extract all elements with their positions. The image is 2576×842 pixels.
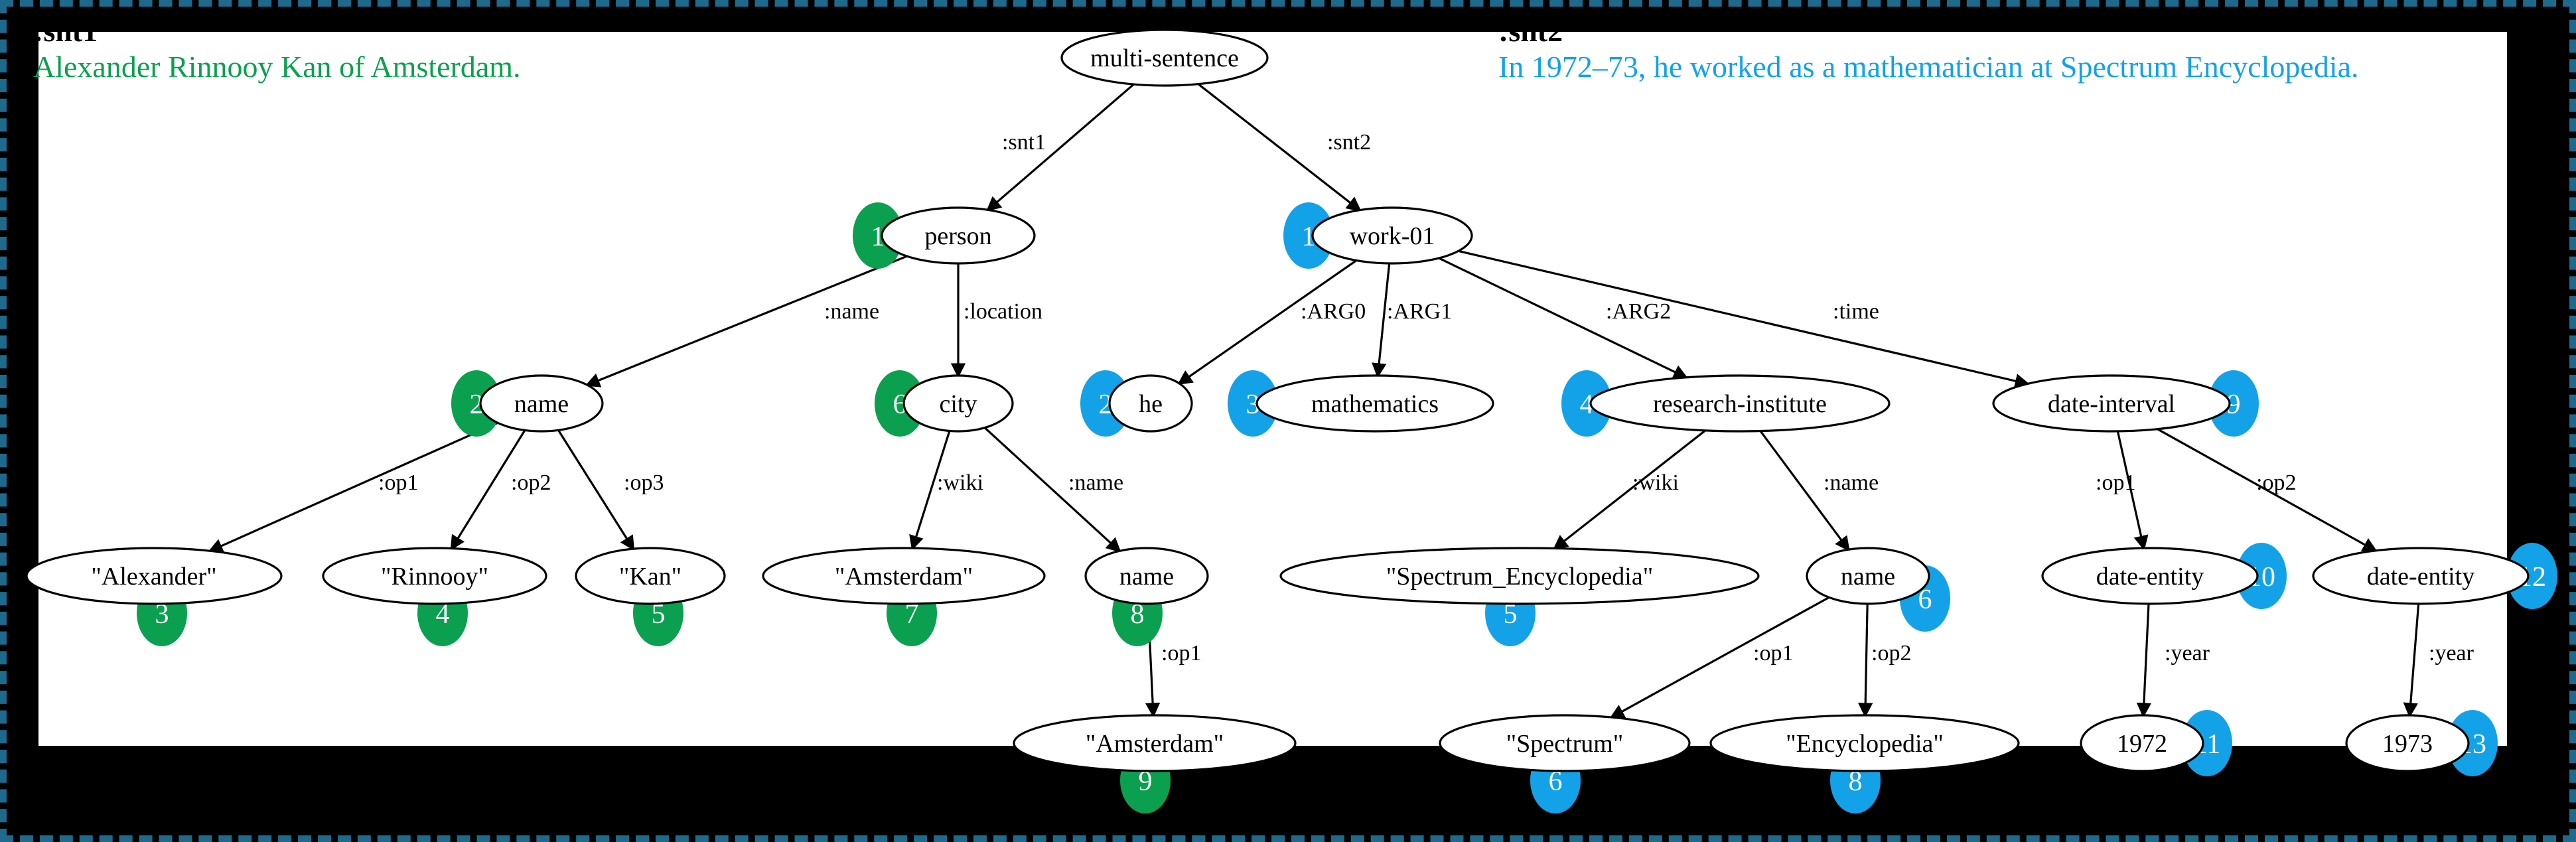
node-index-badge-label: 9 [1139,766,1153,797]
node-index-badge-label: 6 [1549,766,1563,797]
node-index-badge [1830,747,1881,813]
snt1-sentence-text: Alexander Rinnooy Kan of Amsterdam. [33,48,896,87]
graph-canvas [38,32,2507,746]
node-index-badge [1530,747,1581,813]
node-index-badge [2507,543,2557,609]
snt2-sentence-text: In 1972–73, he worked as a mathematician… [1498,48,2547,87]
snt1-key-label: :snt1 [33,13,98,48]
amr-visualization-page: :snt1 Alexander Rinnooy Kan of Amsterdam… [0,0,2576,842]
node-index-badge-label: 8 [1849,766,1863,797]
node-index-badge-label: 12 [2518,562,2546,593]
snt2-key-label: :snt2 [1498,13,1563,48]
node-index-badge [1120,747,1171,813]
